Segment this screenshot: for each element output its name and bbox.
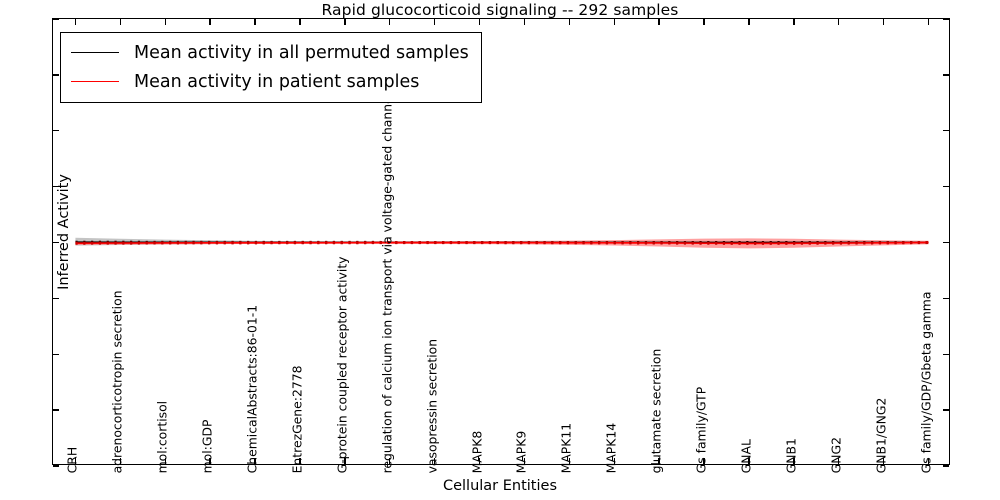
x-tick-mark xyxy=(793,19,794,25)
x-tick-mark xyxy=(120,19,121,25)
legend-item: Mean activity in all permuted samples xyxy=(71,38,469,67)
chart-title: Rapid glucocorticoid signaling -- 292 sa… xyxy=(0,1,1000,19)
x-axis-label: Cellular Entities xyxy=(0,478,1000,494)
x-tick-mark xyxy=(299,19,300,25)
x-tick-label: EntrezGene:2778 xyxy=(292,366,304,474)
y-tick-mark xyxy=(943,465,949,466)
legend-swatch-permuted xyxy=(71,52,119,53)
y-tick-mark xyxy=(943,130,949,131)
y-tick-mark xyxy=(943,186,949,187)
x-tick-label: mol:GDP xyxy=(202,420,214,474)
x-tick-label: GNAL xyxy=(741,439,753,473)
x-tick-mark xyxy=(434,19,435,25)
x-tick-mark xyxy=(75,19,76,25)
y-tick-mark xyxy=(943,409,949,410)
x-tick-mark xyxy=(524,19,525,25)
x-tick-label: Gs family/GTP xyxy=(696,387,708,474)
x-tick-label: regulation of calcium ion transport via … xyxy=(381,93,393,474)
legend-swatch-patient xyxy=(71,81,119,82)
x-tick-label: mol:cortisol xyxy=(157,401,169,474)
series-line xyxy=(75,243,928,244)
x-tick-label: Gs family/GDP/Gbeta gamma xyxy=(920,292,932,474)
x-tick-label: MAPK11 xyxy=(561,423,573,474)
y-tick-mark xyxy=(943,74,949,75)
legend-label-patient: Mean activity in patient samples xyxy=(134,72,419,92)
chart-legend: Mean activity in all permuted samples Me… xyxy=(60,32,482,103)
y-tick-mark xyxy=(943,242,949,243)
x-tick-mark xyxy=(928,19,929,25)
x-tick-label: CRH xyxy=(67,447,79,474)
x-tick-label: vasopressin secretion xyxy=(426,339,438,474)
chart-canvas: Rapid glucocorticoid signaling -- 292 sa… xyxy=(0,0,1000,500)
x-tick-label: MAPK8 xyxy=(471,431,483,474)
x-tick-mark xyxy=(569,19,570,25)
x-tick-mark xyxy=(614,19,615,25)
x-tick-label: GNB1 xyxy=(785,438,797,473)
x-tick-label: glutamate secretion xyxy=(651,349,663,474)
x-tick-label: G-protein coupled receptor activity xyxy=(336,256,348,473)
x-tick-mark xyxy=(703,19,704,25)
x-tick-label: GNG2 xyxy=(830,437,842,473)
legend-item: Mean activity in patient samples xyxy=(71,67,469,96)
x-tick-label: GNB1/GNG2 xyxy=(875,398,887,474)
x-tick-mark xyxy=(254,19,255,25)
y-tick-mark xyxy=(943,354,949,355)
x-tick-mark xyxy=(344,19,345,25)
legend-label-permuted: Mean activity in all permuted samples xyxy=(134,43,469,63)
x-tick-mark xyxy=(748,19,749,25)
x-tick-mark xyxy=(658,19,659,25)
x-tick-mark xyxy=(165,19,166,25)
x-tick-label: MAPK9 xyxy=(516,431,528,474)
x-tick-mark xyxy=(838,19,839,25)
y-tick-mark xyxy=(943,18,949,19)
x-tick-mark xyxy=(479,19,480,25)
x-tick-mark xyxy=(389,19,390,25)
x-tick-mark xyxy=(883,19,884,25)
x-tick-label: adrenocorticotropin secretion xyxy=(112,290,124,473)
x-tick-mark xyxy=(209,19,210,25)
y-tick-mark xyxy=(943,298,949,299)
y-tick-mark xyxy=(53,465,59,466)
x-tick-label: ChemicalAbstracts:86-01-1 xyxy=(247,305,259,474)
x-tick-label: MAPK14 xyxy=(606,423,618,474)
